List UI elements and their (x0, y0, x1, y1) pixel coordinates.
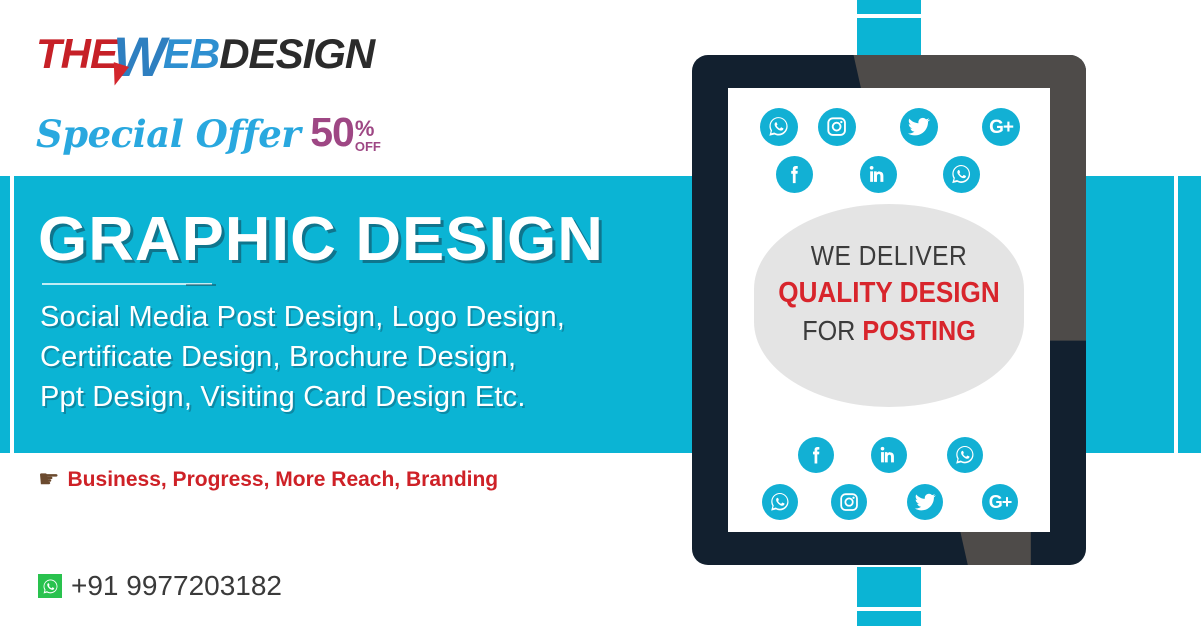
brand-logo: THE W EB DESIGN (36, 30, 374, 78)
whatsapp-icon[interactable] (947, 437, 983, 473)
promo-message: WE DELIVER QUALITY DESIGN FOR POSTING (754, 238, 1024, 349)
cyan-tab-bottom (857, 567, 921, 626)
promo-line-2: QUALITY DESIGN (768, 274, 1011, 313)
services-list: Social Media Post Design, Logo Design, C… (40, 297, 565, 417)
cyan-tab-top-gap (857, 14, 921, 18)
whatsapp-icon[interactable] (943, 156, 980, 193)
cyan-tab-top (857, 0, 921, 58)
offer-off-label: OFF (355, 140, 381, 153)
promotional-banner: THE W EB DESIGN Special Offer 50 % OFF G… (0, 0, 1201, 626)
services-line-3: Ppt Design, Visiting Card Design Etc. (40, 377, 565, 417)
promo-line-3-prefix: FOR (802, 315, 862, 346)
instagram-icon[interactable] (831, 484, 867, 520)
offer-amount: 50 (310, 112, 354, 153)
logo-design: DESIGN (219, 30, 374, 78)
cyan-band-left-gap (10, 176, 14, 453)
services-line-1: Social Media Post Design, Logo Design, (40, 297, 565, 337)
title-divider-shadow (186, 284, 216, 286)
pointing-hand-icon: ☛ (38, 468, 60, 492)
phone-number[interactable]: +91 9977203182 (71, 570, 282, 602)
services-line-2: Certificate Design, Brochure Design, (40, 337, 565, 377)
whatsapp-icon[interactable] (762, 484, 798, 520)
twitter-icon[interactable] (900, 108, 938, 146)
contact-row[interactable]: +91 9977203182 (38, 570, 282, 602)
cyan-tab-bottom-gap (857, 607, 921, 611)
promo-line-3-highlight: POSTING (862, 315, 975, 346)
googleplus-icon[interactable]: G+ (982, 484, 1018, 520)
special-offer-label: Special Offer (36, 116, 300, 153)
cyan-band-right-gap (1174, 176, 1178, 453)
logo-the: THE (36, 30, 117, 78)
logo-eb: EB (163, 30, 219, 78)
linkedin-icon[interactable] (860, 156, 897, 193)
whatsapp-icon[interactable] (760, 108, 798, 146)
twitter-icon[interactable] (907, 484, 943, 520)
promo-line-1: WE DELIVER (770, 238, 1008, 274)
offer-percent-symbol: % (355, 119, 375, 139)
linkedin-icon[interactable] (871, 437, 907, 473)
offer-percent-group: % OFF (355, 119, 381, 153)
instagram-icon[interactable] (818, 108, 856, 146)
benefits-text: Business, Progress, More Reach, Branding (68, 468, 499, 492)
page-title: GRAPHIC DESIGN (38, 209, 604, 271)
facebook-icon[interactable] (798, 437, 834, 473)
facebook-icon[interactable] (776, 156, 813, 193)
benefits-row: ☛ Business, Progress, More Reach, Brandi… (38, 468, 498, 492)
whatsapp-icon (38, 574, 62, 598)
googleplus-icon[interactable]: G+ (982, 108, 1020, 146)
special-offer: Special Offer 50 % OFF (36, 112, 381, 153)
promo-line-3: FOR POSTING (768, 313, 1011, 349)
